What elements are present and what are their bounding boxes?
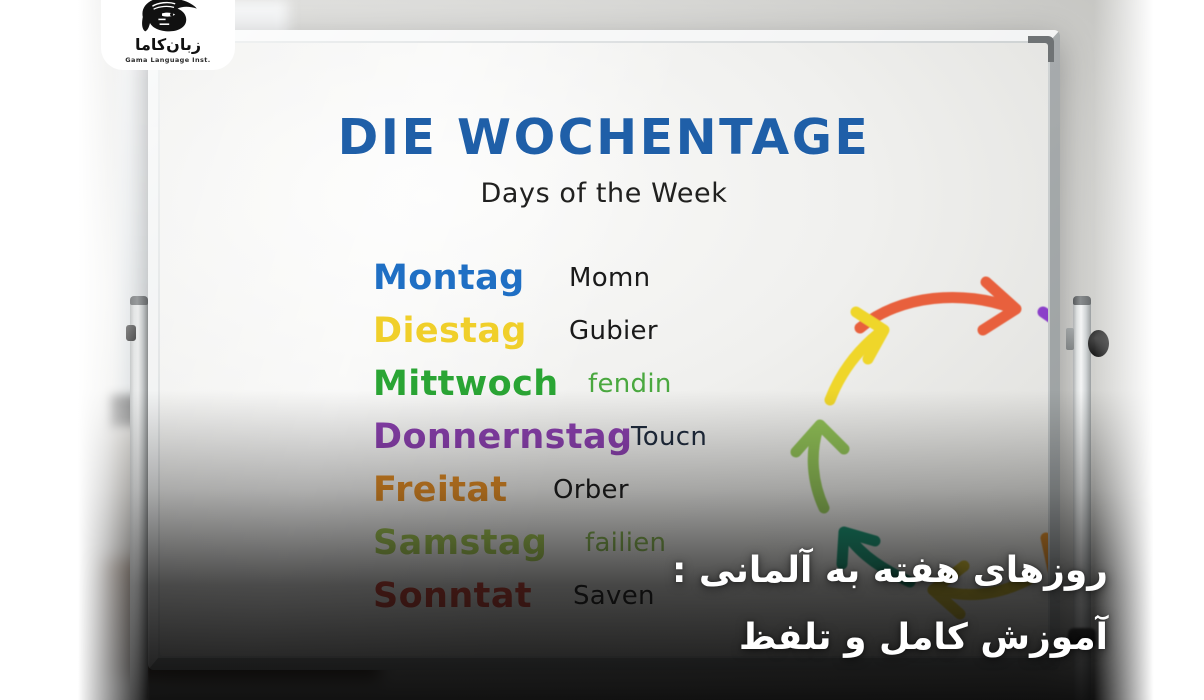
day-pronunciation: Momn — [569, 263, 650, 293]
day-german-word: Montag — [373, 258, 525, 298]
day-pronunciation: Gubier — [569, 316, 658, 346]
spartan-helmet-icon — [132, 0, 204, 35]
day-pronunciation: failien — [585, 528, 666, 558]
day-row: MontagMomn — [373, 258, 793, 311]
stand-knob-right — [1088, 330, 1109, 357]
brand-logo[interactable]: زبان‌کاما Gama Language Inst. — [101, 0, 235, 70]
day-pronunciation: Orber — [553, 475, 629, 505]
day-german-word: Samstag — [373, 523, 547, 563]
whiteboard-frame: DIE WOCHENTAGE Days of the Week MontagMo… — [148, 30, 1060, 670]
day-row: Mittwochfendin — [373, 364, 793, 417]
stand-cap-right — [1073, 296, 1091, 305]
week-cycle-diagram — [780, 268, 1048, 628]
day-german-word: Diestag — [373, 311, 527, 351]
brand-name-en: Gama Language Inst. — [125, 56, 210, 64]
screenshot-root: DIE WOCHENTAGE Days of the Week MontagMo… — [0, 0, 1204, 700]
day-german-word: Freitat — [373, 470, 508, 510]
day-pronunciation: Toucn — [631, 422, 707, 452]
page-subtitle: Days of the Week — [160, 178, 1048, 209]
stand-cap-left — [130, 296, 148, 305]
day-pronunciation: Saven — [573, 581, 655, 611]
day-row: FreitatOrber — [373, 470, 793, 523]
day-pronunciation: fendin — [588, 369, 672, 399]
whiteboard-surface: DIE WOCHENTAGE Days of the Week MontagMo… — [160, 43, 1048, 656]
brand-name-fa: زبان‌کاما — [135, 37, 201, 53]
day-german-word: Mittwoch — [373, 364, 559, 404]
stand-post-left — [130, 300, 148, 700]
day-german-word: Sonntat — [373, 576, 532, 616]
day-row: Samstagfailien — [373, 523, 793, 576]
day-row: DonnernstagToucn — [373, 417, 793, 470]
days-list: MontagMomnDiestagGubierMittwochfendinDon… — [373, 258, 793, 629]
stand-knob-left — [126, 325, 136, 341]
page-title: DIE WOCHENTAGE — [160, 109, 1048, 166]
day-row: DiestagGubier — [373, 311, 793, 364]
day-german-word: Donnernstag — [373, 417, 632, 457]
stand-foot-right — [1068, 628, 1096, 648]
stand-clip-right — [1066, 328, 1074, 350]
day-row: SonntatSaven — [373, 576, 793, 629]
